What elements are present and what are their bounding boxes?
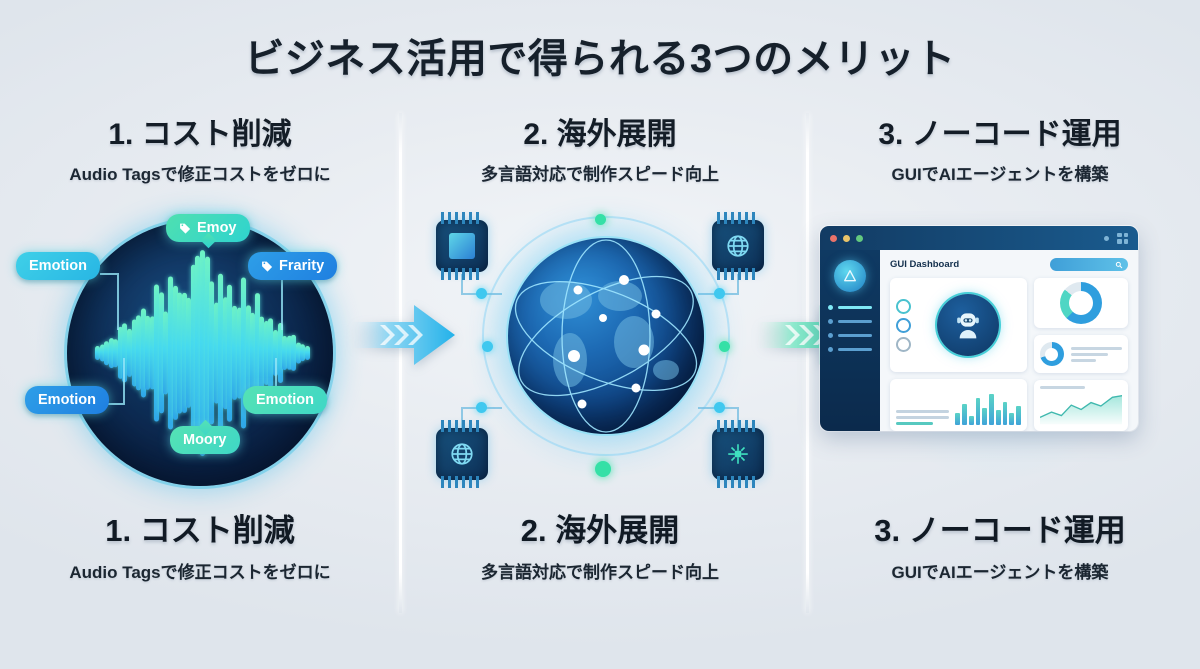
column-3-title: 3. ノーコード運用 bbox=[800, 118, 1200, 153]
globe-node bbox=[476, 402, 487, 413]
column-1-foot-title: 1. コスト削減 bbox=[0, 513, 400, 549]
globe-node bbox=[714, 402, 725, 413]
globe-node bbox=[482, 341, 493, 352]
maximize-icon[interactable] bbox=[856, 235, 863, 242]
column-1-footer: 1. コスト削減 Audio Tagsで修正コストをゼロに bbox=[0, 513, 400, 583]
bar-chart-card[interactable] bbox=[890, 379, 1027, 430]
tag-emoy-label: Emoy bbox=[197, 220, 237, 236]
column-2-title: 2. 海外展開 bbox=[400, 118, 800, 153]
dashboard-titlebar bbox=[820, 226, 1138, 250]
dashboard-sidebar bbox=[820, 250, 880, 431]
column-2-foot-title: 2. 海外展開 bbox=[400, 513, 800, 549]
step-indicator bbox=[896, 299, 911, 352]
bar-chart-labels bbox=[896, 410, 949, 425]
column-2-foot-subtitle: 多言語対応で制作スピード向上 bbox=[400, 558, 800, 583]
circuit-chip-icon bbox=[712, 428, 764, 480]
page-title: ビジネス活用で得られる3つのメリット bbox=[0, 26, 1200, 84]
globe-node bbox=[476, 288, 487, 299]
sidebar-item-3[interactable] bbox=[828, 333, 872, 338]
app-logo-icon bbox=[834, 260, 866, 292]
sidebar-item-1[interactable] bbox=[828, 305, 872, 310]
robot-avatar-icon bbox=[937, 294, 999, 356]
column-3-foot-title: 3. ノーコード運用 bbox=[800, 513, 1200, 549]
minimize-icon[interactable] bbox=[843, 235, 850, 242]
area-chart-label bbox=[1040, 386, 1085, 389]
metric-lines bbox=[1071, 347, 1122, 362]
tag-moory[interactable]: Moory bbox=[170, 426, 240, 454]
donut-chart-card[interactable] bbox=[1034, 278, 1128, 328]
illustration-audio-waveform-orb: Emoy Emotion Frarity Emotion Emotion Moo… bbox=[0, 208, 400, 498]
circuit-icon bbox=[725, 441, 751, 467]
donut-chart bbox=[1060, 282, 1102, 324]
globe-chip-icon bbox=[436, 428, 488, 480]
benefit-column-1: 1. コスト削減 Audio Tagsで修正コストをゼロに Emoy Emoti… bbox=[0, 118, 400, 185]
dashboard-window: GUI Dashboard bbox=[820, 226, 1138, 431]
column-3-footer: 3. ノーコード運用 GUIでAIエージェントを構築 bbox=[800, 513, 1200, 583]
illustration-connected-globe bbox=[400, 208, 800, 498]
column-3-foot-subtitle: GUIでAIエージェントを構築 bbox=[800, 558, 1200, 583]
illustration-gui-dashboard: GUI Dashboard bbox=[800, 208, 1200, 498]
area-chart-card[interactable] bbox=[1034, 380, 1128, 430]
tag-frarity-label: Frarity bbox=[279, 258, 324, 274]
sidebar-item-2[interactable] bbox=[828, 319, 872, 324]
globe-node bbox=[714, 288, 725, 299]
tag-icon bbox=[179, 222, 192, 235]
globe-node bbox=[719, 341, 730, 352]
area-chart bbox=[1040, 393, 1122, 424]
close-icon[interactable] bbox=[830, 235, 837, 242]
tag-moory-label: Moory bbox=[183, 432, 227, 448]
grid-view-icon[interactable] bbox=[1117, 233, 1128, 244]
benefit-column-3: 3. ノーコード運用 GUIでAIエージェントを構築 bbox=[800, 118, 1200, 185]
column-3-subtitle: GUIでAIエージェントを構築 bbox=[800, 160, 1200, 185]
column-1-header: 1. コスト削減 Audio Tagsで修正コストをゼロに bbox=[0, 118, 400, 185]
tag-emotion-lower-left[interactable]: Emotion bbox=[25, 386, 109, 414]
benefit-column-2: 2. 海外展開 多言語対応で制作スピード向上 bbox=[400, 118, 800, 185]
column-2-header: 2. 海外展開 多言語対応で制作スピード向上 bbox=[400, 118, 800, 185]
column-1-foot-subtitle: Audio Tagsで修正コストをゼロに bbox=[0, 558, 400, 583]
column-1-subtitle: Audio Tagsで修正コストをゼロに bbox=[0, 160, 400, 185]
step-node bbox=[896, 318, 911, 333]
globe bbox=[508, 238, 704, 434]
globe-icon bbox=[725, 233, 751, 259]
tag-emotion-lower-left-label: Emotion bbox=[38, 392, 96, 408]
tag-emoy[interactable]: Emoy bbox=[166, 214, 250, 242]
globe-chip-icon bbox=[712, 220, 764, 272]
agent-card[interactable] bbox=[890, 278, 1027, 372]
step-node bbox=[896, 337, 911, 352]
globe-node bbox=[595, 214, 606, 225]
tag-frarity[interactable]: Frarity bbox=[248, 252, 337, 280]
tag-emotion-upper-left[interactable]: Emotion bbox=[16, 252, 100, 280]
step-node bbox=[896, 299, 911, 314]
metric-card[interactable] bbox=[1034, 335, 1128, 373]
chip-icon bbox=[436, 220, 488, 272]
search-icon bbox=[1115, 261, 1123, 269]
tag-emotion-lower-right-label: Emotion bbox=[256, 392, 314, 408]
column-1-title: 1. コスト削減 bbox=[0, 118, 400, 153]
column-2-subtitle: 多言語対応で制作スピード向上 bbox=[400, 160, 800, 185]
globe-node bbox=[595, 461, 611, 477]
sidebar-item-4[interactable] bbox=[828, 347, 872, 352]
column-3-header: 3. ノーコード運用 GUIでAIエージェントを構築 bbox=[800, 118, 1200, 185]
donut-chart-small bbox=[1040, 342, 1064, 366]
dashboard-title: GUI Dashboard bbox=[890, 259, 959, 270]
tag-icon bbox=[261, 260, 274, 273]
column-2-footer: 2. 海外展開 多言語対応で制作スピード向上 bbox=[400, 513, 800, 583]
globe-icon bbox=[449, 441, 475, 467]
bar-chart bbox=[955, 391, 1020, 425]
tag-emotion-upper-left-label: Emotion bbox=[29, 258, 87, 274]
tag-emotion-lower-right[interactable]: Emotion bbox=[243, 386, 327, 414]
search-input[interactable] bbox=[1050, 258, 1128, 271]
more-icon[interactable] bbox=[1104, 236, 1109, 241]
